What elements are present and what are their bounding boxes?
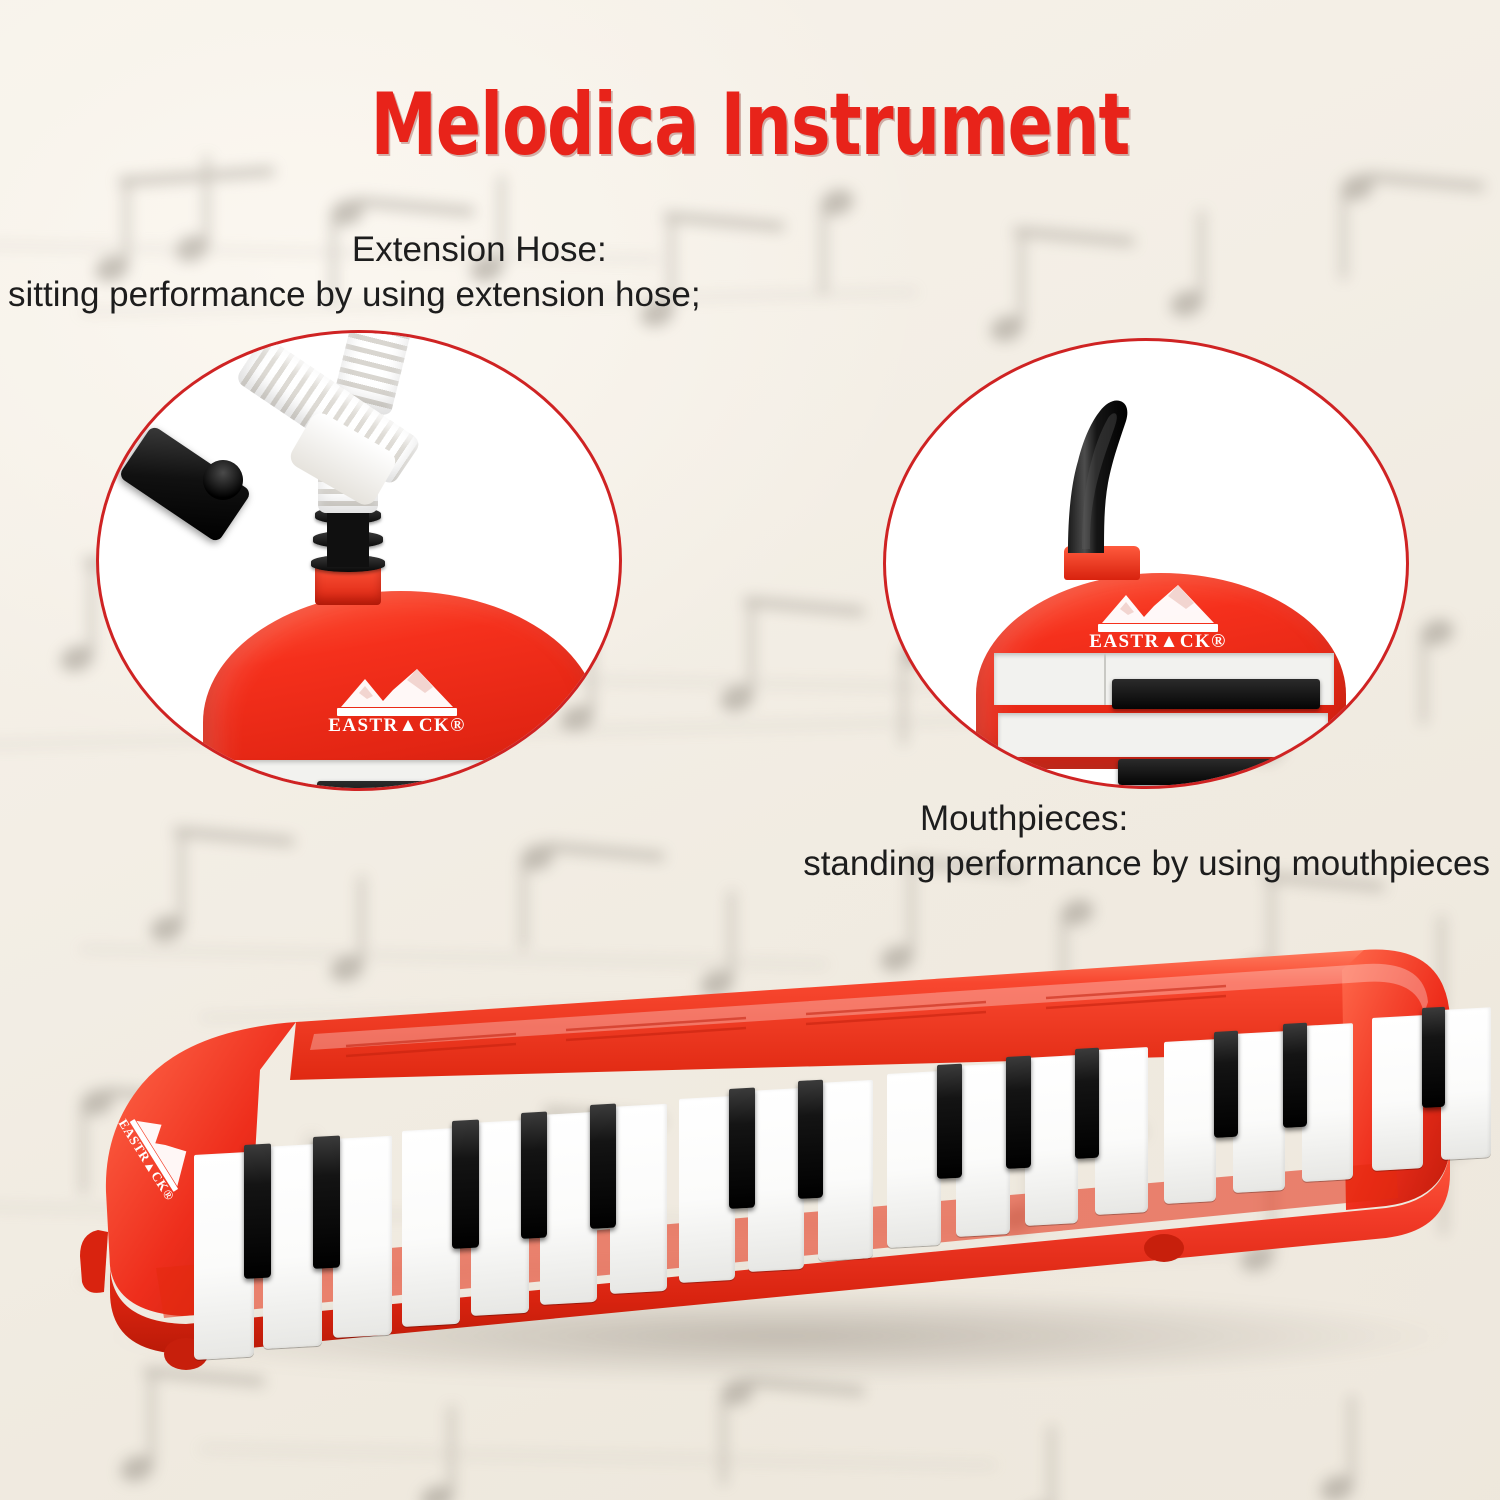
hose-coupling-shaft xyxy=(327,509,369,567)
melodica-black-key[interactable] xyxy=(244,1144,271,1279)
callout-extension-hose-caption: Extension Hose: sitting performance by u… xyxy=(8,228,701,318)
melodica-white-key[interactable] xyxy=(610,1103,667,1293)
melodica-black-key[interactable] xyxy=(1283,1023,1307,1128)
melodica-white-key[interactable] xyxy=(1095,1047,1148,1215)
melodica-black-key[interactable] xyxy=(729,1087,755,1208)
melodica-black-key[interactable] xyxy=(452,1120,479,1249)
mouthpiece-black xyxy=(886,341,1406,786)
melodica-white-key[interactable] xyxy=(748,1087,804,1271)
melodica-black-key[interactable] xyxy=(1214,1031,1238,1138)
inset-extension-hose: EASTR▲CK® xyxy=(96,330,622,791)
melodica-black-key[interactable] xyxy=(1006,1055,1031,1168)
melodica-black-key[interactable] xyxy=(1075,1047,1099,1158)
callout-mouthpieces-heading: Mouthpieces: xyxy=(803,797,1490,842)
melodica-white-key[interactable] xyxy=(956,1063,1010,1237)
callout-mouthpieces-caption: Mouthpieces: standing performance by usi… xyxy=(803,797,1490,887)
melodica-black-key[interactable] xyxy=(1422,1007,1445,1108)
melodica-white-key[interactable] xyxy=(1441,1007,1491,1160)
melodica-white-key[interactable] xyxy=(818,1079,873,1260)
melodica-white-key[interactable] xyxy=(333,1136,392,1338)
melodica-white-key[interactable] xyxy=(540,1112,597,1305)
callout-mouthpieces-description: standing performance by using mouthpiece… xyxy=(803,842,1490,887)
melodica-white-key[interactable] xyxy=(1302,1023,1353,1182)
melodica-black-key[interactable] xyxy=(937,1063,962,1178)
svg-text:EASTR▲CK®: EASTR▲CK® xyxy=(328,715,465,735)
melodica-white-key[interactable] xyxy=(1233,1031,1285,1193)
melodica-white-key[interactable] xyxy=(887,1071,941,1248)
callout-extension-hose-description: sitting performance by using extension h… xyxy=(8,273,701,318)
melodica-black-key[interactable] xyxy=(521,1111,547,1238)
melodica-black-key[interactable] xyxy=(313,1136,340,1269)
eastrock-logo-left-inset: EASTR▲CK® xyxy=(321,663,481,735)
melodica-white-key[interactable] xyxy=(1372,1015,1423,1171)
melodica-product: EASTR▲CK® xyxy=(46,930,1476,1400)
melodica-white-key[interactable] xyxy=(1025,1055,1078,1226)
melodica-keybed xyxy=(46,930,1476,1400)
inset-mouthpieces: EASTR▲CK® xyxy=(883,338,1409,789)
melodica-black-key[interactable] xyxy=(798,1079,823,1198)
page-title: Melodica Instrument xyxy=(105,82,1395,168)
melodica-black-key[interactable] xyxy=(590,1103,616,1228)
product-image-canvas: Melodica Instrument Extension Hose: sitt… xyxy=(0,0,1500,1500)
melodica-white-key[interactable] xyxy=(679,1095,735,1282)
melodica-white-key[interactable] xyxy=(1164,1039,1216,1204)
callout-extension-hose-heading: Extension Hose: xyxy=(8,228,701,273)
